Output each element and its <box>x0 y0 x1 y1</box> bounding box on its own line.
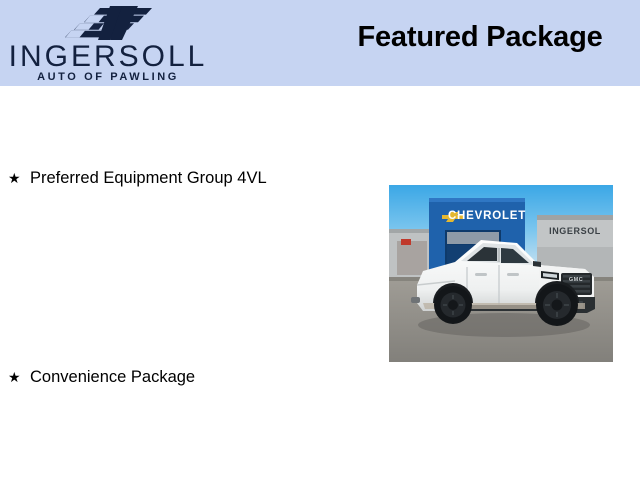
feature-label: Preferred Equipment Group 4VL <box>30 170 267 187</box>
svg-text:GMC: GMC <box>569 277 583 283</box>
logo-subtitle: AUTO OF PAWLING <box>8 72 208 83</box>
dealer-logo[interactable]: INGERSOLL AUTO OF PAWLING <box>8 4 208 84</box>
star-bullet-icon: ★ <box>8 370 30 384</box>
feature-label: Convenience Package <box>30 369 195 386</box>
star-bullet-icon: ★ <box>8 171 30 185</box>
feature-list-item: ★ Convenience Package <box>8 369 195 386</box>
svg-text:INGERSOL: INGERSOL <box>549 226 601 236</box>
page-title: Featured Package <box>330 20 630 55</box>
logo-wordmark: INGERSOLL <box>8 42 208 72</box>
ingersoll-wing-flag-logo-icon <box>60 6 156 40</box>
feature-list-item: ★ Preferred Equipment Group 4VL <box>8 170 267 187</box>
vehicle-photo[interactable]: INGERSOL CHEVROLET <box>389 185 613 362</box>
svg-text:CHEVROLET: CHEVROLET <box>448 210 526 222</box>
